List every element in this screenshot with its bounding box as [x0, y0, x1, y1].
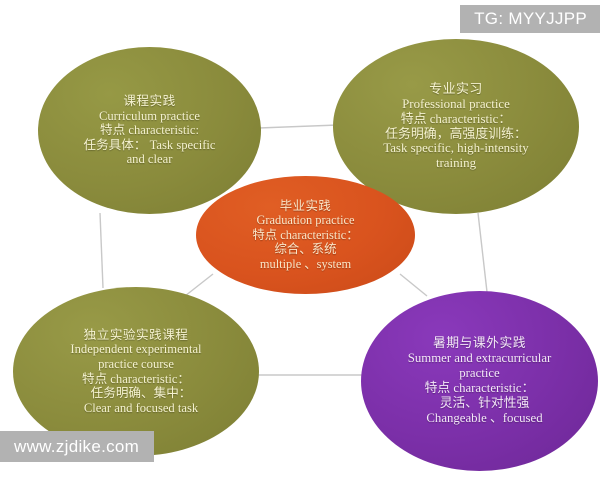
- connector-graduation-summer: [400, 274, 427, 296]
- node-summer-line-1: 暑期与课外实践: [433, 336, 526, 351]
- node-independent-line-2: Independent experimental: [70, 342, 201, 357]
- node-curriculum-line-5: and clear: [127, 152, 173, 167]
- node-professional-line-5: Task specific, high-intensity: [383, 141, 529, 156]
- connector-professional-summer: [478, 213, 487, 292]
- node-curriculum-line-4: 任务具体： Task specific: [83, 138, 215, 153]
- node-graduation-line-1: 毕业实践: [280, 199, 332, 213]
- node-independent-line-1: 独立实验实践课程: [84, 328, 189, 343]
- node-graduation-line-3: 特点 characteristic：: [252, 228, 358, 242]
- node-curriculum-line-3: 特点 characteristic:: [100, 123, 199, 138]
- node-summer-line-4: 特点 characteristic：: [425, 381, 535, 396]
- node-curriculum-line-1: 课程实践: [123, 94, 175, 109]
- node-professional-line-3: 特点 characteristic：: [401, 112, 512, 127]
- node-professional-line-4: 任务明确，高强度训练：: [385, 127, 527, 142]
- connector-graduation-independent: [185, 274, 213, 296]
- node-graduation-line-2: Graduation practice: [256, 213, 354, 227]
- diagram-canvas: 课程实践 Curriculum practice 特点 characterist…: [0, 0, 600, 480]
- node-summer-line-2: Summer and extracurricular: [408, 351, 552, 366]
- node-graduation-line-4: 综合、系统: [275, 242, 337, 256]
- node-graduation-line-5: multiple 、system: [260, 257, 351, 271]
- node-summer-line-5: 灵活、针对性强: [430, 396, 530, 411]
- connector-curriculum-professional: [259, 125, 338, 128]
- watermark-website: www.zjdike.com: [0, 431, 154, 462]
- watermark-telegram: TG: MYYJJPP: [460, 5, 600, 33]
- connector-independent-curriculum: [100, 213, 103, 288]
- node-summer-line-3: practice: [459, 366, 500, 381]
- node-professional-line-6: training: [436, 156, 476, 171]
- node-curriculum-line-2: Curriculum practice: [99, 109, 200, 124]
- node-summer-line-6: Changeable 、focused: [416, 411, 542, 426]
- node-summer-extracurricular-practice[interactable]: 暑期与课外实践 Summer and extracurricular pract…: [361, 291, 598, 471]
- node-professional-line-1: 专业实习: [429, 82, 483, 97]
- node-independent-line-4: 特点 characteristic：: [82, 372, 190, 387]
- node-independent-line-5: 任务明确、集中：: [81, 386, 192, 401]
- node-professional-line-2: Professional practice: [402, 97, 510, 112]
- node-independent-line-6: Clear and focused task: [74, 401, 198, 416]
- node-curriculum-practice[interactable]: 课程实践 Curriculum practice 特点 characterist…: [38, 47, 261, 214]
- node-graduation-practice[interactable]: 毕业实践 Graduation practice 特点 characterist…: [196, 176, 415, 294]
- node-independent-line-3: practice course: [98, 357, 174, 372]
